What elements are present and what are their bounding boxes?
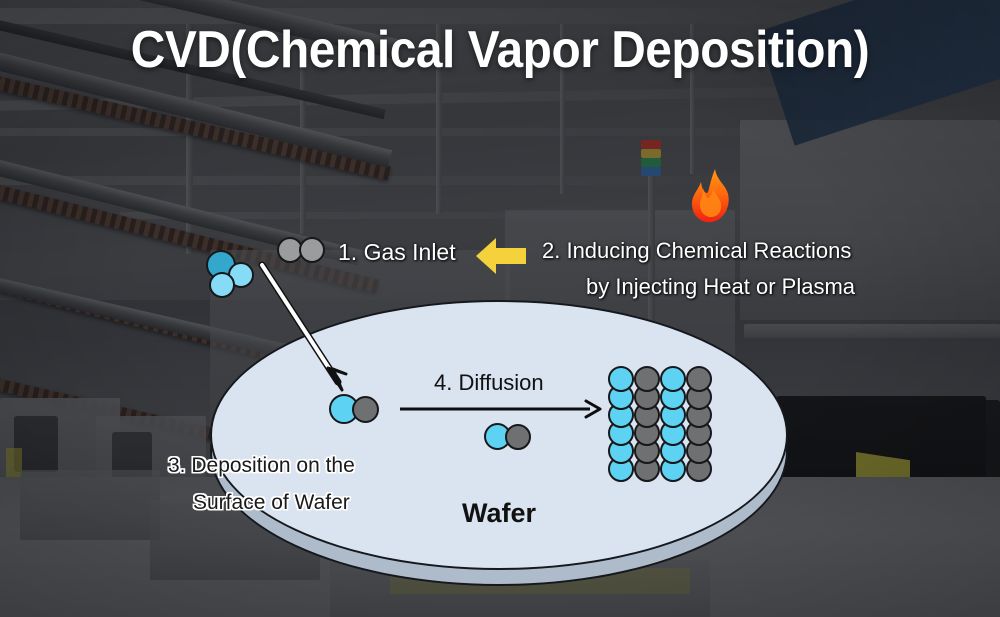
arrow-right-icon xyxy=(398,398,604,420)
cvd-diagram-image: CVD(Chemical Vapor Deposition) Wafer 1. … xyxy=(0,0,1000,617)
flame-icon xyxy=(686,168,738,224)
gas-atom xyxy=(209,272,235,298)
step3-label-line2: Surface of Wafer xyxy=(193,489,350,517)
lattice-atom-cyan xyxy=(660,366,686,392)
arrow-diagonal-down-icon xyxy=(250,256,360,401)
lattice-atom-gray xyxy=(634,366,660,392)
page-title: CVD(Chemical Vapor Deposition) xyxy=(40,20,960,80)
diffusing-atom-gray xyxy=(505,424,531,450)
deposited-atom-gray xyxy=(352,396,379,423)
step2-label-line1: 2. Inducing Chemical Reactions xyxy=(542,236,851,265)
step2-label-line2: by Injecting Heat or Plasma xyxy=(586,272,855,301)
lattice-atom-gray xyxy=(686,366,712,392)
arrow-left-icon xyxy=(474,232,530,280)
step3-label-line1: 3. Deposition on the xyxy=(168,452,355,480)
lattice-atom-cyan xyxy=(608,366,634,392)
step4-label: 4. Diffusion xyxy=(434,368,544,397)
